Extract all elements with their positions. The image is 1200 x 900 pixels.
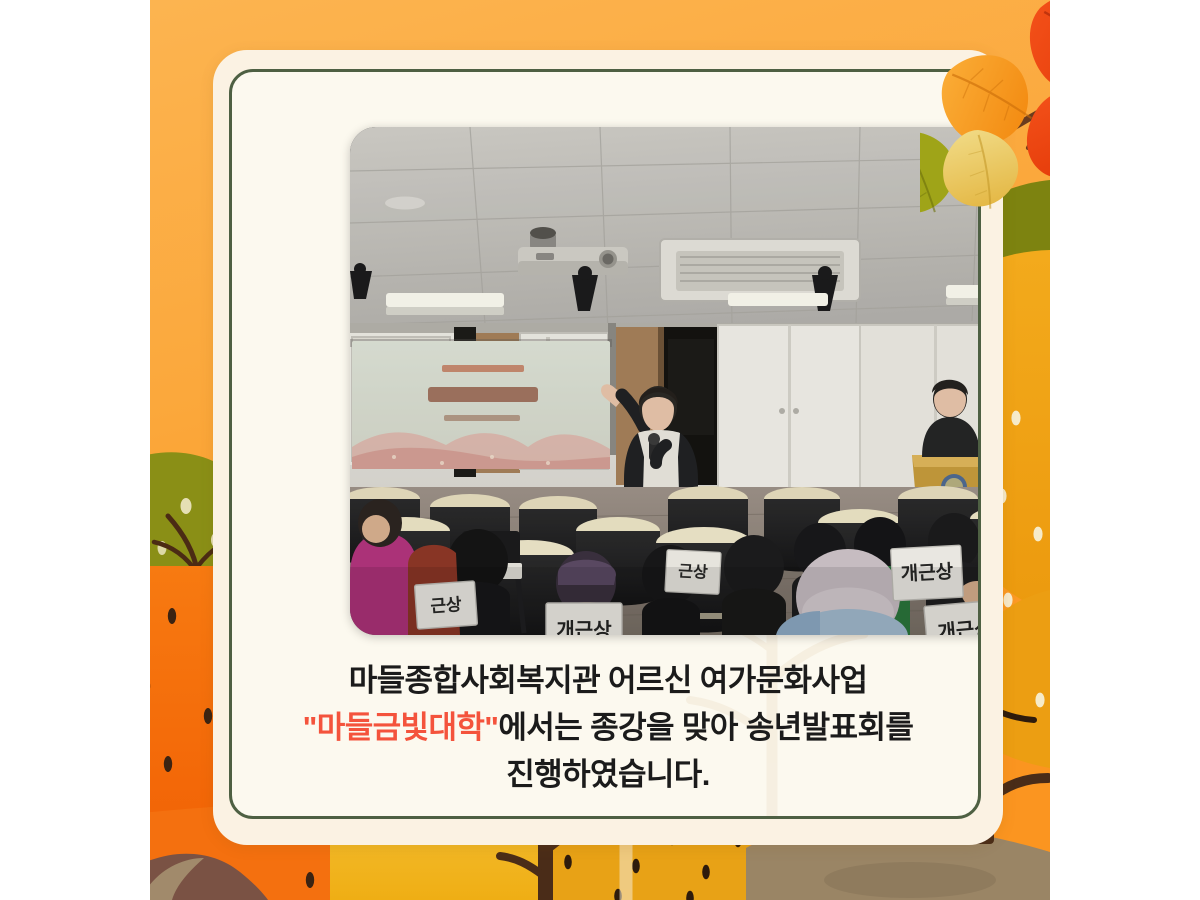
gutter-left bbox=[0, 0, 150, 900]
caption-highlight: "마들금빛대학" bbox=[303, 710, 499, 745]
content-card-inner: 근상 개근상 근상 bbox=[229, 69, 981, 819]
content-card: 근상 개근상 근상 bbox=[213, 50, 1003, 845]
event-photo: 근상 개근상 근상 bbox=[350, 127, 981, 635]
caption-line-2: "마들금빛대학"에서는 종강을 맞아 송년발표회를 bbox=[232, 704, 981, 751]
gutter-right bbox=[1050, 0, 1200, 900]
caption-line-1: 마들종합사회복지관 어르신 여가문화사업 bbox=[232, 657, 981, 704]
caption-block: 마들종합사회복지관 어르신 여가문화사업 "마들금빛대학"에서는 종강을 맞아 … bbox=[232, 657, 981, 798]
caption-line-3: 진행하였습니다. bbox=[232, 751, 981, 798]
poster-canvas: 근상 개근상 근상 bbox=[150, 0, 1050, 900]
poster-root: 근상 개근상 근상 bbox=[0, 0, 1200, 900]
caption-line-2-rest: 에서는 종강을 맞아 송년발표회를 bbox=[498, 710, 913, 745]
event-photo-illustration: 근상 개근상 근상 bbox=[350, 127, 981, 635]
